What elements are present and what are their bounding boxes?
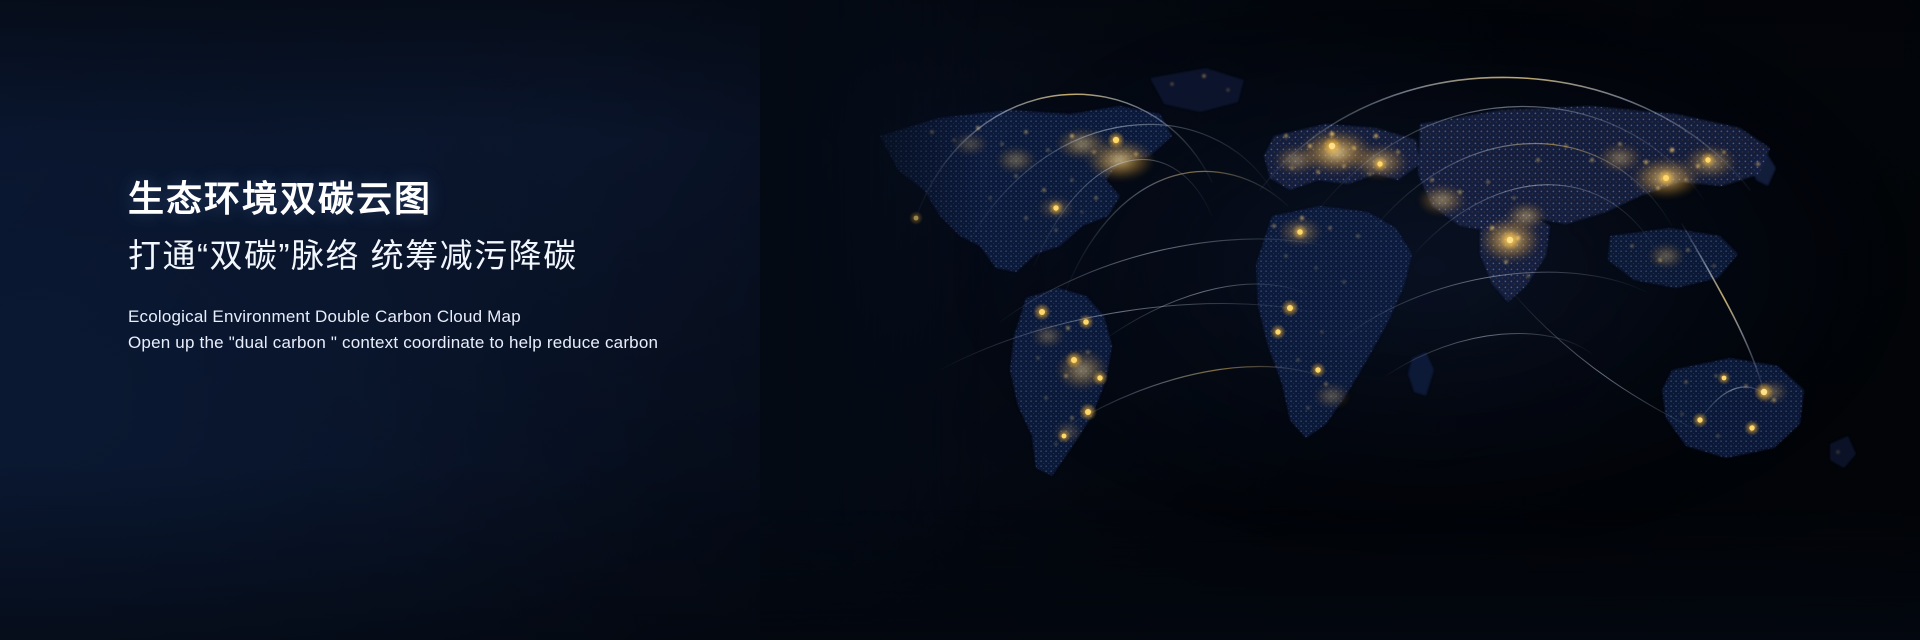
world-night-lights-map [820,40,1920,560]
page-subtitle: 打通“双碳”脉络 统筹减污降碳 [128,235,888,278]
map-landmasses [820,40,1920,560]
english-title-line: Ecological Environment Double Carbon Clo… [128,304,888,330]
page-title: 生态环境双碳云图 [128,176,888,221]
hero-copy-block: 生态环境双碳云图 打通“双碳”脉络 统筹减污降碳 Ecological Envi… [128,176,888,357]
hero-banner: 生态环境双碳云图 打通“双碳”脉络 统筹减污降碳 Ecological Envi… [0,0,1920,640]
english-subtitle-line: Open up the "dual carbon " context coord… [128,330,888,356]
map-svg [820,40,1920,560]
